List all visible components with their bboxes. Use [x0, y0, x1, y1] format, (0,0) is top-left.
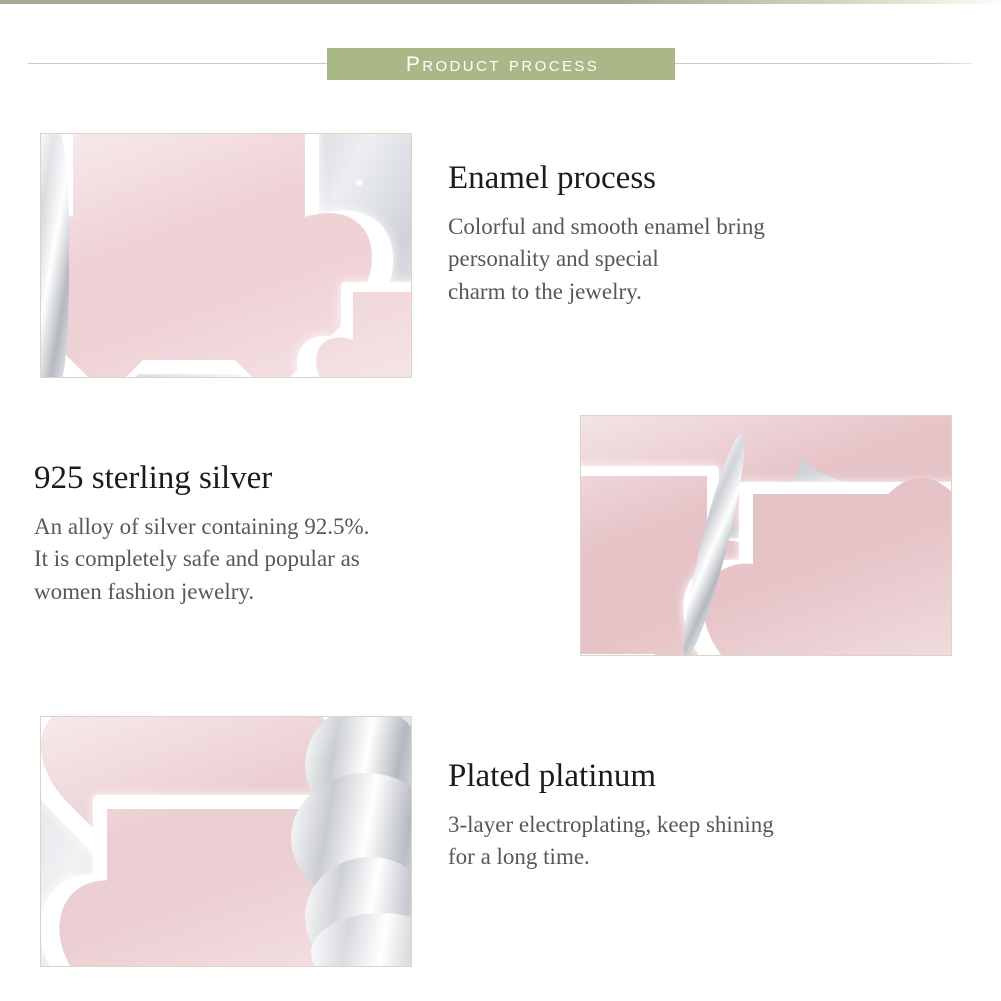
- block-body: An alloy of silver containing 92.5%. It …: [34, 511, 514, 609]
- product-photo-plated-platinum: [40, 716, 412, 967]
- block-body-line: An alloy of silver containing 92.5%.: [34, 511, 514, 544]
- block-title: 925 sterling silver: [34, 460, 514, 498]
- product-photo-enamel-process: [40, 133, 412, 378]
- section-header: Product process: [0, 48, 1001, 80]
- section-header-banner: Product process: [327, 48, 675, 80]
- photo-inner: [41, 134, 411, 377]
- product-process-page: Product process Enamel process: [0, 0, 1001, 1001]
- block-body-line: 3-layer electroplating, keep shining: [448, 809, 918, 842]
- photo-inner: [41, 717, 411, 966]
- text-block-sterling-silver: 925 sterling silver An alloy of silver c…: [34, 460, 514, 609]
- block-title: Enamel process: [448, 160, 918, 198]
- header-rule-right: [675, 63, 972, 64]
- text-block-enamel-process: Enamel process Colorful and smooth ename…: [448, 160, 918, 309]
- photo-gloss: [581, 416, 951, 655]
- block-body-line: Colorful and smooth enamel bring: [448, 211, 918, 244]
- photo-gloss: [41, 134, 411, 377]
- block-body-line: for a long time.: [448, 841, 918, 874]
- section-header-label: Product process: [403, 54, 599, 75]
- photo-gloss: [41, 717, 411, 966]
- block-body-line: It is completely safe and popular as: [34, 543, 514, 576]
- block-body: Colorful and smooth enamel bring persona…: [448, 211, 918, 309]
- text-block-plated-platinum: Plated platinum 3-layer electroplating, …: [448, 758, 918, 874]
- photo-inner: [581, 416, 951, 655]
- product-photo-sterling-silver: [580, 415, 952, 656]
- top-accent-bar: [0, 0, 1001, 4]
- header-rule-left: [28, 63, 327, 64]
- block-title: Plated platinum: [448, 758, 918, 796]
- block-body-line: women fashion jewelry.: [34, 576, 514, 609]
- block-body: 3-layer electroplating, keep shining for…: [448, 809, 918, 874]
- block-body-line: personality and special: [448, 243, 918, 276]
- block-body-line: charm to the jewelry.: [448, 276, 918, 309]
